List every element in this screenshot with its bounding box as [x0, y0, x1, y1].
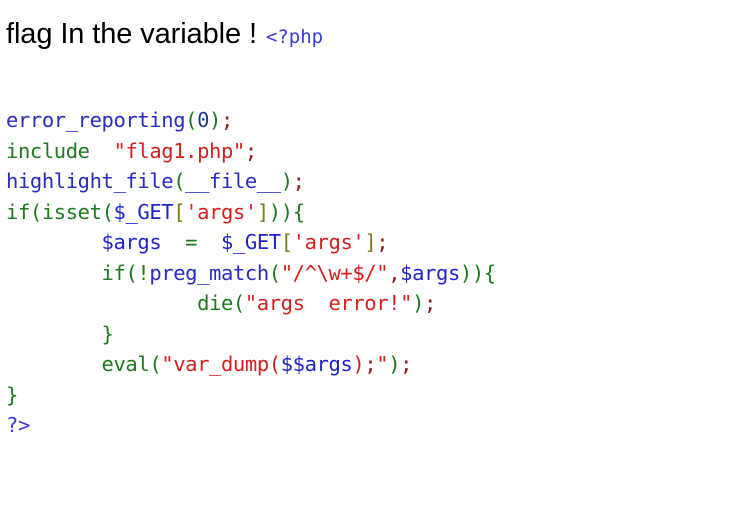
code-token: 'args' — [293, 230, 365, 254]
code-token: __file__ — [185, 169, 281, 193]
code-token: "var_dump( — [161, 352, 280, 376]
code-line: $args = $_GET['args']; — [6, 227, 496, 258]
code-token: [ — [173, 200, 185, 224]
code-indent — [6, 352, 102, 376]
code-token: eval — [102, 352, 150, 376]
code-token: isset — [42, 200, 102, 224]
code-token: 'args' — [185, 200, 257, 224]
page-title-row: flag In the variable ! <?php — [6, 17, 323, 51]
code-token: ! — [137, 261, 149, 285]
code-line: error_reporting(0); — [6, 105, 496, 136]
code-line: if(isset($_GET['args'])){ — [6, 197, 496, 228]
code-token: ; — [400, 352, 412, 376]
code-indent — [6, 230, 102, 254]
code-line: } — [6, 319, 496, 350]
code-token: [ — [281, 230, 293, 254]
code-token: ( — [185, 108, 197, 132]
code-token: } — [6, 383, 18, 407]
code-token: 0 — [197, 108, 209, 132]
code-token: ( — [149, 352, 161, 376]
code-token: = — [185, 230, 197, 254]
php-source-listing-page: flag In the variable ! <?php error_repor… — [0, 0, 741, 528]
code-line: } — [6, 380, 496, 411]
code-token — [197, 230, 221, 254]
code-token: $args — [400, 261, 460, 285]
code-token: { — [484, 261, 496, 285]
code-token: include — [6, 139, 90, 163]
code-token — [90, 139, 114, 163]
code-token: highlight_file — [6, 169, 173, 193]
code-token: preg_match — [149, 261, 268, 285]
code-token: { — [293, 200, 305, 224]
code-line: die("args error!"); — [6, 288, 496, 319]
code-indent — [6, 261, 102, 285]
code-token: ) — [352, 352, 364, 376]
code-token: ; — [376, 230, 388, 254]
code-token: ; — [245, 139, 257, 163]
code-token: die — [197, 291, 233, 315]
code-token: )) — [460, 261, 484, 285]
code-token: ; — [424, 291, 436, 315]
code-token: if — [6, 200, 30, 224]
code-token: )) — [269, 200, 293, 224]
code-token: ) — [209, 108, 221, 132]
code-token: $_GET — [221, 230, 281, 254]
code-token: "args error!" — [245, 291, 412, 315]
code-token: ( — [30, 200, 42, 224]
page-title: flag In the variable ! — [6, 17, 257, 51]
code-token: ) — [412, 291, 424, 315]
code-token: ( — [102, 200, 114, 224]
code-token: ( — [173, 169, 185, 193]
code-token: $_GET — [114, 200, 174, 224]
code-token: ?> — [6, 413, 30, 437]
code-token: , — [388, 261, 400, 285]
code-token: ( — [269, 261, 281, 285]
code-token: $$args — [281, 352, 353, 376]
code-token: $ — [352, 261, 364, 285]
code-token: ; — [293, 169, 305, 193]
code-line: highlight_file(__file__); — [6, 166, 496, 197]
code-token: ) — [388, 352, 400, 376]
code-line: eval("var_dump($$args);"); — [6, 349, 496, 380]
code-token: ; — [221, 108, 233, 132]
code-token: ; — [364, 352, 376, 376]
code-line: ?> — [6, 410, 496, 441]
code-token: "flag1.php" — [114, 139, 245, 163]
code-token: /" — [364, 261, 388, 285]
php-code-block: error_reporting(0);include "flag1.php";h… — [6, 105, 496, 441]
code-token: ( — [125, 261, 137, 285]
code-token: ( — [233, 291, 245, 315]
code-indent — [6, 322, 102, 346]
code-line: if(!preg_match("/^\w+$/",$args)){ — [6, 258, 496, 289]
code-line: include "flag1.php"; — [6, 136, 496, 167]
code-token: ] — [257, 200, 269, 224]
code-token: error_reporting — [6, 108, 185, 132]
code-token: } — [102, 322, 114, 346]
code-token — [161, 230, 185, 254]
php-open-tag: <?php — [266, 25, 323, 49]
code-token: if — [102, 261, 126, 285]
code-token: "/^\w+ — [281, 261, 353, 285]
code-token: " — [376, 352, 388, 376]
code-token: $args — [102, 230, 162, 254]
code-token: ) — [281, 169, 293, 193]
code-indent — [6, 291, 197, 315]
code-token: ] — [364, 230, 376, 254]
